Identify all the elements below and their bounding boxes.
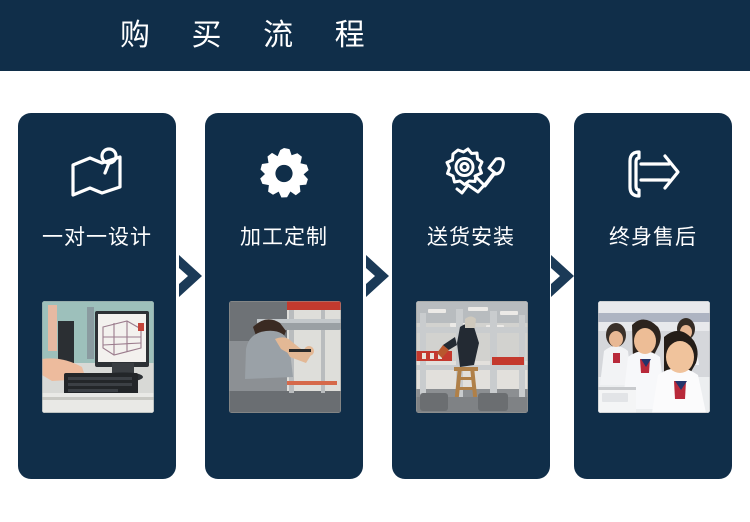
step-card-4[interactable]: 终身售后 [574,113,732,479]
gear-wrench-icon [392,135,550,213]
step-label-3: 送货安装 [392,221,550,251]
chevron-right-icon-2 [363,253,395,299]
stripe-2 [655,0,750,71]
step-photo-1 [42,301,154,413]
step-photo-4 [598,301,710,413]
step-label-1: 一对一设计 [18,221,176,251]
page-header: 购 买 流 程 [0,0,750,71]
step-photo-3 [416,301,528,413]
page-title: 购 买 流 程 [120,0,381,71]
gear-icon [205,135,363,213]
step-card-2[interactable]: 加工定制 [205,113,363,479]
step-label-2: 加工定制 [205,221,363,251]
step-photo-2 [229,301,341,413]
step-label-4: 终身售后 [574,221,732,251]
step-card-1[interactable]: 一对一设计 [18,113,176,479]
map-pin-icon [18,135,176,213]
stripe-1 [600,0,750,71]
chevron-right-icon-1 [176,253,208,299]
step-card-3[interactable]: 送货安装 [392,113,550,479]
diagonal-stripes-decoration [450,0,750,71]
chevron-right-icon-3 [548,253,580,299]
stripe-3 [708,0,750,71]
phone-arrow-icon [574,135,732,213]
